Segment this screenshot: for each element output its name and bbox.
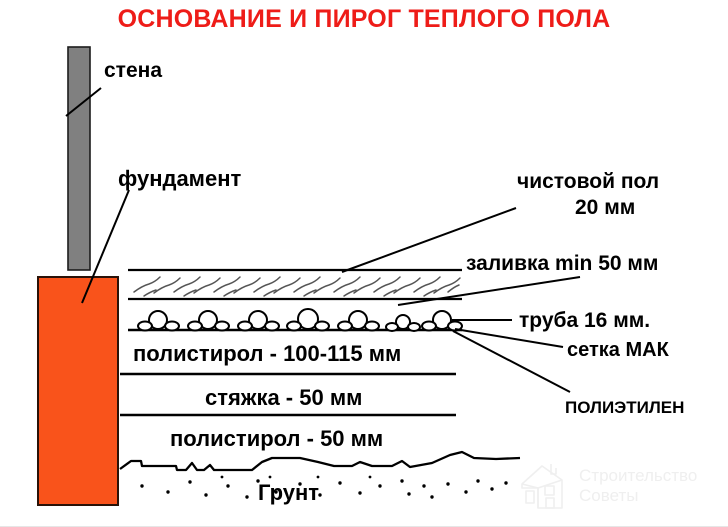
ground-layer (120, 452, 520, 499)
leader-pour (398, 277, 580, 305)
label-finish-floor-thickness: 20 мм (575, 197, 635, 218)
label-screed: стяжка - 50 мм (205, 387, 362, 409)
diagram-canvas: ОСНОВАНИЕ И ПИРОГ ТЕПЛОГО ПОЛА стена фун… (0, 0, 728, 527)
page-title: ОСНОВАНИЕ И ПИРОГ ТЕПЛОГО ПОЛА (0, 7, 728, 32)
label-mesh: сетка МАК (567, 340, 669, 360)
label-pour-layer: заливка min 50 мм (466, 253, 658, 274)
label-ground: Грунт (258, 482, 319, 504)
label-styrofoam-100: полистирол - 100-115 мм (133, 343, 401, 365)
label-pipe: труба 16 мм. (519, 310, 650, 331)
label-wall: стена (104, 60, 162, 81)
wall-block (68, 47, 90, 270)
foundation-block (38, 277, 118, 505)
label-foundation: фундамент (118, 168, 241, 190)
label-styrofoam-50: полистирол - 50 мм (170, 428, 383, 450)
label-polyethylene: ПОЛИЭТИЛЕН (565, 399, 684, 416)
leader-polyethylene (453, 331, 570, 392)
label-finish-floor: чистовой пол (517, 171, 659, 192)
pipe-and-mesh-layer (128, 309, 462, 331)
pour-layer-band (128, 270, 462, 299)
